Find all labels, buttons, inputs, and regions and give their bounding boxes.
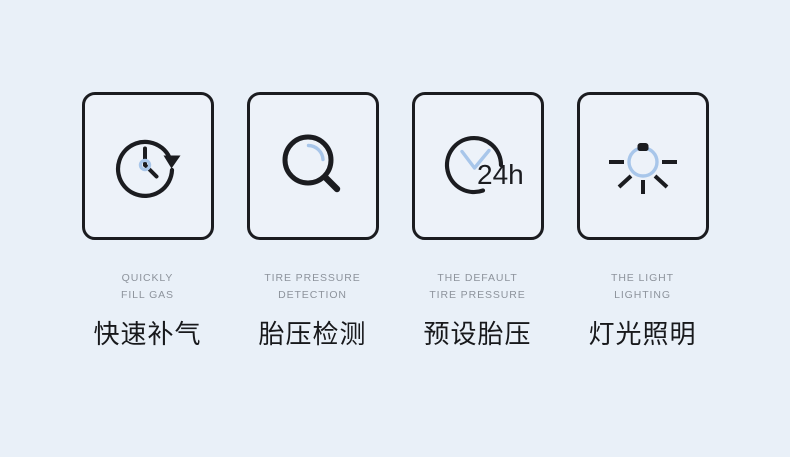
feature-list: QUICKLY FILL GAS 快速补气 [0,0,790,350]
feature-title-cn: 预设胎压 [423,320,531,350]
caption-line-2: DETECTION [264,287,360,304]
caption-line-1: THE LIGHT [611,270,674,287]
icon-text-24h: 24h [477,159,523,190]
feature-item: TIRE PRESSURE DETECTION 胎压检测 [247,92,379,350]
caption-line-1: THE DEFAULT [429,270,525,287]
caption-line-2: LIGHTING [611,287,674,304]
feature-caption-en: THE LIGHT LIGHTING [611,270,674,304]
caption-line-1: QUICKLY [121,270,174,287]
caption-line-1: TIRE PRESSURE [264,270,360,287]
feature-icon-card [577,92,709,240]
magnifier-icon [271,124,355,208]
feature-caption-en: QUICKLY FILL GAS [121,270,174,304]
feature-highlights-page: QUICKLY FILL GAS 快速补气 [0,0,790,457]
clock-24h-icon: 24h [433,124,523,208]
feature-icon-card [82,92,214,240]
feature-caption-en: THE DEFAULT TIRE PRESSURE [429,270,525,304]
feature-title-cn: 胎压检测 [258,320,366,350]
light-bulb-icon [601,124,685,208]
feature-caption-en: TIRE PRESSURE DETECTION [264,270,360,304]
feature-title-cn: 快速补气 [93,320,201,350]
feature-title-cn: 灯光照明 [588,320,696,350]
feature-item: 24h THE DEFAULT TIRE PRESSURE 预设胎压 [412,92,544,350]
feature-item: THE LIGHT LIGHTING 灯光照明 [577,92,709,350]
caption-line-2: TIRE PRESSURE [429,287,525,304]
feature-icon-card: 24h [412,92,544,240]
caption-line-2: FILL GAS [121,287,174,304]
feature-item: QUICKLY FILL GAS 快速补气 [82,92,214,350]
clock-refresh-icon [106,124,190,208]
feature-icon-card [247,92,379,240]
